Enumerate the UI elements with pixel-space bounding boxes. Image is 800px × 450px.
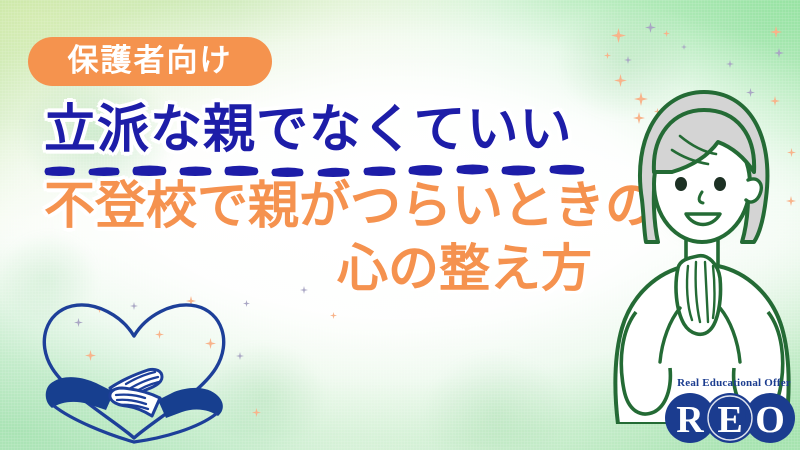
svg-text:R: R	[676, 399, 704, 441]
sparkle-icon	[681, 44, 687, 50]
dashed-underline-icon	[44, 162, 600, 178]
headline-block: 立派な親でなくていい 不登校で親がつらい	[0, 104, 620, 294]
right-sleeve	[158, 388, 223, 418]
reo-tagline: Real Educational Offer	[671, 378, 797, 389]
right-eye	[714, 177, 726, 191]
sparkle-icon	[252, 408, 261, 417]
reo-mark: R E O	[663, 393, 797, 444]
smiling-woman-icon	[596, 72, 800, 424]
left-eye	[675, 177, 687, 191]
audience-badge: 保護者向け	[28, 37, 272, 86]
sparkle-icon	[611, 28, 626, 43]
ear	[746, 179, 761, 202]
headline-line-2: 不登校で親がつらいときの	[0, 180, 620, 231]
dashed-underline	[0, 162, 620, 178]
heart-hands-icon	[22, 292, 246, 448]
svg-text:O: O	[755, 399, 785, 441]
left-sleeve	[46, 377, 114, 410]
sparkle-icon	[645, 22, 656, 33]
thumbnail-canvas: 保護者向け 立派な親でなくていい	[0, 0, 800, 450]
headline-line-3: 心の整え方	[0, 243, 620, 294]
heart-hands-illustration	[22, 292, 246, 448]
reo-logo: Real Educational Offer R E O	[663, 378, 797, 444]
headline-line-1: 立派な親でなくていい	[0, 104, 620, 156]
sparkle-icon	[663, 30, 670, 37]
sparkle-icon	[770, 26, 782, 38]
sparkle-icon	[624, 56, 632, 64]
woman-illustration	[596, 72, 800, 424]
svg-text:E: E	[717, 399, 742, 441]
sparkle-icon	[330, 312, 337, 319]
sparkle-icon	[774, 48, 784, 58]
reo-circles-icon: R E O	[663, 393, 797, 444]
audience-badge-label: 保護者向け	[68, 45, 233, 78]
sparkle-icon	[726, 60, 734, 68]
sparkle-icon	[604, 52, 611, 59]
